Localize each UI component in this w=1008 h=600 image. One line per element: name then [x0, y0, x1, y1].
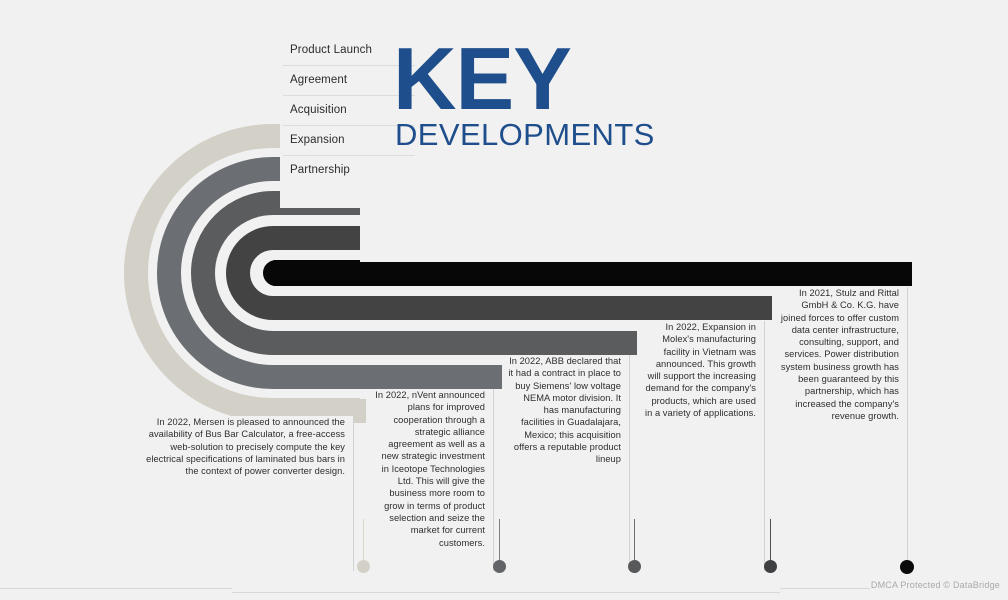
bar-partnership: [275, 262, 912, 286]
card-text-acquisition: In 2022, ABB declared that it had a cont…: [508, 355, 621, 466]
legend-item-partnership[interactable]: Partnership: [283, 156, 415, 185]
card-text-partnership: In 2021, Stulz and Rittal GmbH & Co. K.G…: [778, 287, 899, 422]
card-partnership: In 2021, Stulz and Rittal GmbH & Co. K.G…: [772, 287, 908, 571]
dot-product-launch[interactable]: [357, 560, 370, 573]
dot-expansion[interactable]: [764, 560, 777, 573]
stem-expansion: [770, 519, 771, 563]
footer-rule-right: [780, 588, 870, 589]
card-text-agreement: In 2022, nVent announced plans for impro…: [372, 389, 485, 549]
infographic-canvas: Product Launch Agreement Acquisition Exp…: [0, 0, 1008, 600]
card-product-launch: In 2022, Mersen is pleased to announced …: [140, 416, 354, 571]
card-text-product-launch: In 2022, Mersen is pleased to announced …: [146, 416, 345, 477]
bar-agreement: [275, 365, 510, 389]
bar-acquisition: [275, 331, 645, 355]
card-expansion: In 2022, Expansion in Molex's manufactur…: [637, 321, 765, 571]
bar-expansion: [275, 296, 780, 320]
footer-rule-left: [0, 588, 232, 589]
dot-acquisition[interactable]: [628, 560, 641, 573]
footer-rule-mid: [232, 592, 780, 593]
card-agreement: In 2022, nVent announced plans for impro…: [366, 389, 494, 571]
card-acquisition: In 2022, ABB declared that it had a cont…: [502, 355, 630, 571]
footer-credit: DMCA Protected © DataBridge: [871, 580, 1000, 590]
stem-agreement: [499, 519, 500, 563]
title-sub: DEVELOPMENTS: [395, 119, 655, 150]
dot-partnership[interactable]: [900, 560, 914, 574]
page-title: KEY DEVELOPMENTS: [393, 40, 655, 150]
stem-acquisition: [634, 519, 635, 563]
dot-agreement[interactable]: [493, 560, 506, 573]
card-text-expansion: In 2022, Expansion in Molex's manufactur…: [643, 321, 756, 419]
title-main: KEY: [393, 40, 655, 117]
stem-product-launch: [363, 519, 364, 563]
